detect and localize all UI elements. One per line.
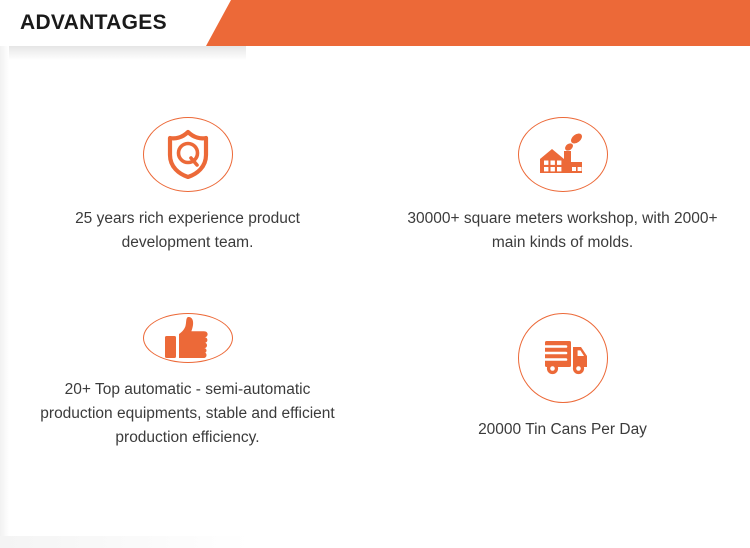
advantage-text: 20000 Tin Cans Per Day: [403, 418, 723, 442]
thumbs-up-icon: [163, 314, 213, 362]
advantage-item: 25 years rich experience product develop…: [0, 60, 375, 255]
factory-icon: [537, 129, 589, 179]
advantage-text: 25 years rich experience product develop…: [38, 207, 338, 255]
bottom-edge-gradient: [0, 536, 250, 548]
advantage-text: 20+ Top automatic - semi-automatic produ…: [38, 378, 338, 450]
section-header: ADVANTAGES: [0, 0, 750, 46]
page-title: ADVANTAGES: [20, 0, 167, 46]
header-shadow: [0, 46, 246, 60]
icon-circle: [143, 117, 233, 192]
icon-circle: [518, 117, 608, 192]
advantages-section: ADVANTAGES 25 years rich experience prod…: [0, 0, 750, 548]
advantage-item: 20000 Tin Cans Per Day: [375, 255, 750, 450]
advantage-item: 20+ Top automatic - semi-automatic produ…: [0, 255, 375, 450]
delivery-truck-icon: [536, 337, 590, 379]
advantages-grid: 25 years rich experience product develop…: [0, 60, 750, 450]
icon-circle: [143, 313, 233, 363]
icon-circle: [518, 313, 608, 403]
advantage-text: 30000+ square meters workshop, with 2000…: [403, 207, 723, 255]
advantage-item: 30000+ square meters workshop, with 2000…: [375, 60, 750, 255]
shield-quality-icon: [164, 129, 212, 179]
